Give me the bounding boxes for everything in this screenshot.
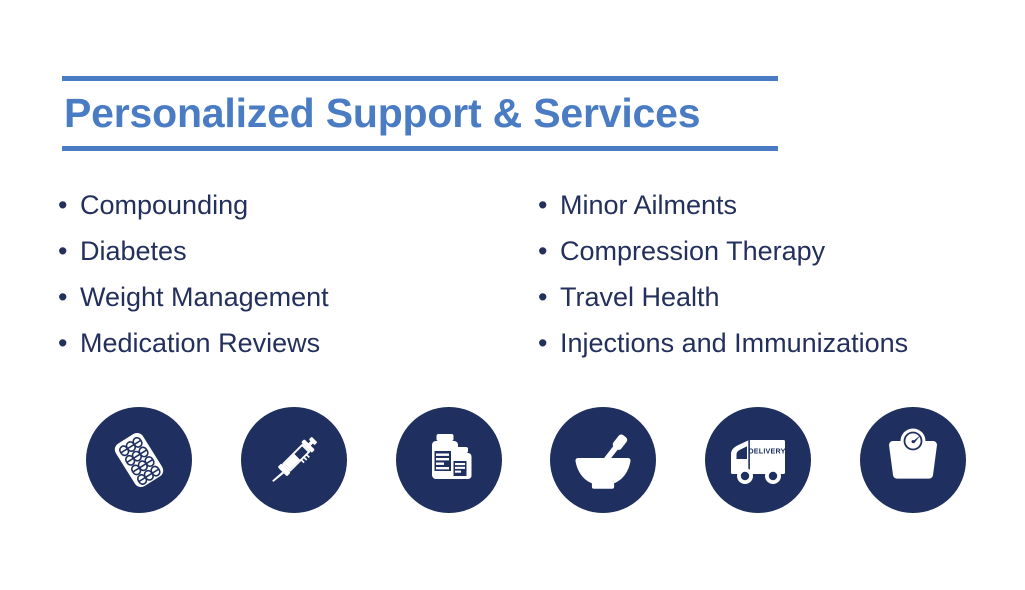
title-rule-bottom: [62, 146, 778, 151]
bullet-icon: •: [58, 182, 67, 228]
mortar-and-pestle-icon: [570, 427, 636, 493]
services-list-right: • Minor Ailments • Compression Therapy •…: [538, 182, 908, 366]
list-item-label: Injections and Immunizations: [560, 328, 908, 358]
delivery-truck-text: DELIVERY: [749, 447, 786, 456]
list-item: • Weight Management: [58, 274, 329, 320]
list-item-label: Minor Ailments: [560, 190, 737, 220]
bullet-icon: •: [58, 228, 67, 274]
icon-badge-delivery-truck: DELIVERY: [705, 407, 811, 513]
weight-scale-icon: [881, 428, 945, 492]
icon-badge-mortar-and-pestle: [550, 407, 656, 513]
list-item-label: Compounding: [80, 190, 248, 220]
list-item-label: Diabetes: [80, 236, 187, 266]
list-item: • Compounding: [58, 182, 329, 228]
pill-bottles-icon: [417, 428, 481, 492]
bullet-icon: •: [58, 274, 67, 320]
icon-badge-pill-bottles: [396, 407, 502, 513]
list-item: • Compression Therapy: [538, 228, 908, 274]
list-item-label: Medication Reviews: [80, 328, 320, 358]
page-title: Personalized Support & Services: [62, 81, 778, 146]
icon-badge-weight-scale: [860, 407, 966, 513]
bullet-icon: •: [538, 182, 547, 228]
list-item: • Medication Reviews: [58, 320, 329, 366]
icon-badge-syringe: [241, 407, 347, 513]
list-item-label: Travel Health: [560, 282, 720, 312]
bullet-icon: •: [538, 320, 547, 366]
list-item: • Diabetes: [58, 228, 329, 274]
list-item-label: Compression Therapy: [560, 236, 825, 266]
delivery-truck-icon: DELIVERY: [722, 427, 794, 493]
syringe-icon: [261, 427, 327, 493]
bullet-icon: •: [58, 320, 67, 366]
list-item: • Travel Health: [538, 274, 908, 320]
list-item: • Minor Ailments: [538, 182, 908, 228]
services-list-left: • Compounding • Diabetes • Weight Manage…: [58, 182, 329, 366]
bullet-icon: •: [538, 274, 547, 320]
icon-badge-blister-pack: [86, 407, 192, 513]
bullet-icon: •: [538, 228, 547, 274]
service-icon-row: DELIVERY: [86, 407, 966, 513]
list-item-label: Weight Management: [80, 282, 329, 312]
page-title-block: Personalized Support & Services: [62, 76, 778, 151]
list-item: • Injections and Immunizations: [538, 320, 908, 366]
blister-pack-icon: [106, 427, 172, 493]
